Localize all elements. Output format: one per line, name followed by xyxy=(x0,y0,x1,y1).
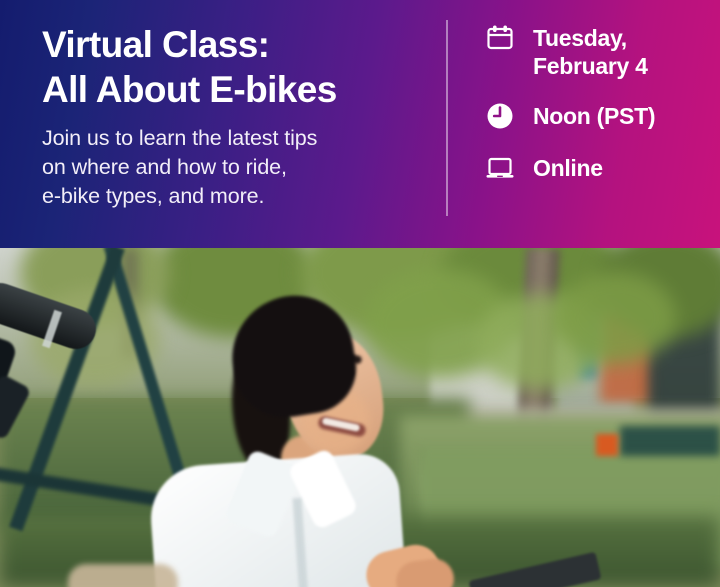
event-photo xyxy=(0,248,720,587)
detail-row-time: Noon (PST) xyxy=(485,102,717,132)
date-line-2: February 4 xyxy=(533,52,648,80)
headline-line-1: Virtual Class: xyxy=(42,22,432,67)
date-line-1: Tuesday, xyxy=(533,25,627,51)
laptop-icon xyxy=(485,154,515,184)
time-line-1: Noon (PST) xyxy=(533,103,655,129)
gradient-banner: Virtual Class: All About E-bikes Join us… xyxy=(0,0,720,248)
subheading-line-3: e-bike types, and more. xyxy=(42,184,264,208)
vertical-divider xyxy=(446,20,448,216)
detail-label-date: Tuesday, February 4 xyxy=(533,24,648,80)
subheading-line-2: on where and how to ride, xyxy=(42,155,287,179)
event-details-list: Tuesday, February 4 Noon (PST) xyxy=(485,24,717,184)
detail-row-date: Tuesday, February 4 xyxy=(485,24,717,80)
calendar-icon xyxy=(485,24,515,54)
clock-icon xyxy=(485,102,515,132)
headline-line-2: All About E-bikes xyxy=(42,67,432,112)
subheading-line-1: Join us to learn the latest tips xyxy=(42,126,317,150)
headline-block: Virtual Class: All About E-bikes Join us… xyxy=(42,22,432,211)
detail-label-time: Noon (PST) xyxy=(533,102,655,130)
subheading-block: Join us to learn the latest tips on wher… xyxy=(42,124,432,211)
detail-row-location: Online xyxy=(485,154,717,184)
detail-label-location: Online xyxy=(533,154,603,182)
location-line-1: Online xyxy=(533,155,603,181)
event-promo-card: Virtual Class: All About E-bikes Join us… xyxy=(0,0,720,587)
